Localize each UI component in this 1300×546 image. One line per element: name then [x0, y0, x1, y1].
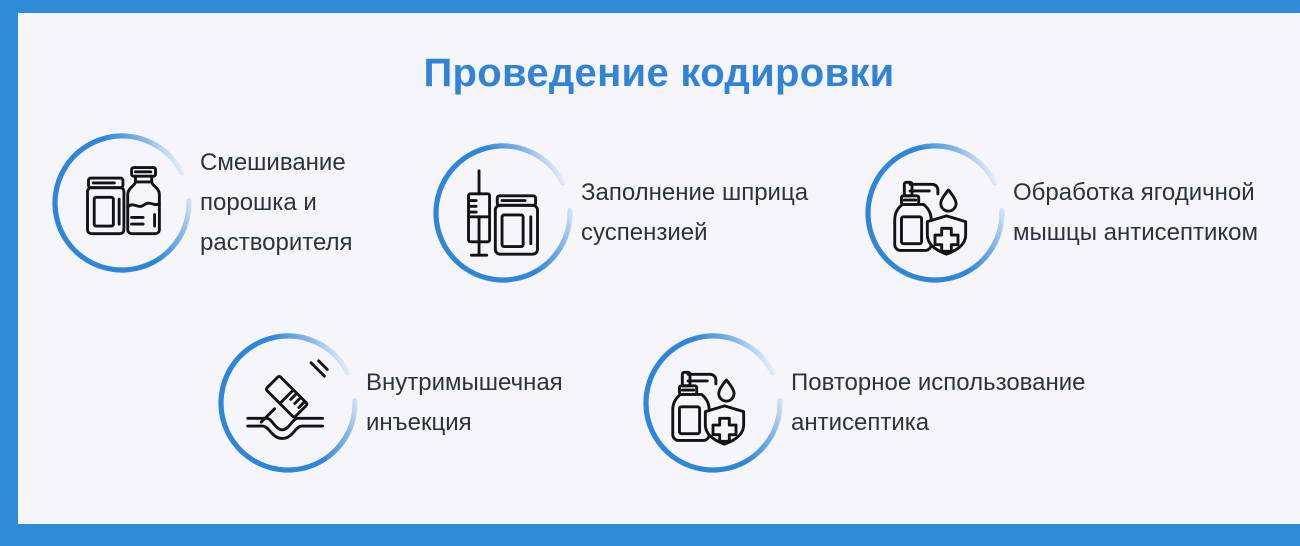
step-badge-4	[216, 331, 360, 475]
step-item-1[interactable]: Смешивание порошка и растворителя	[50, 131, 353, 275]
step-label-4: Внутримышечная инъекция	[366, 363, 563, 443]
step-badge-5	[641, 331, 785, 475]
step-item-4[interactable]: Внутримышечная инъекция	[216, 331, 563, 475]
step-badge-1	[50, 131, 194, 275]
infographic-frame: Проведение кодировки	[0, 0, 1300, 546]
antiseptic-dispenser-icon	[889, 167, 981, 259]
step-item-2[interactable]: Заполнение шприца суспензией	[431, 141, 808, 285]
step-badge-3	[863, 141, 1007, 285]
step-label-5: Повторное использование антисептика	[791, 363, 1086, 443]
infographic-panel: Проведение кодировки	[18, 13, 1300, 524]
step-label-3: Обработка ягодичной мышцы антисептиком	[1013, 173, 1258, 253]
antiseptic-dispenser-icon	[667, 357, 759, 449]
step-label-1: Смешивание порошка и растворителя	[200, 143, 353, 263]
syringe-and-vial-icon	[457, 167, 549, 259]
step-badge-2	[431, 141, 575, 285]
page-title: Проведение кодировки	[18, 51, 1300, 96]
step-item-5[interactable]: Повторное использование антисептика	[641, 331, 1086, 475]
intramuscular-injection-icon	[242, 357, 334, 449]
step-item-3[interactable]: Обработка ягодичной мышцы антисептиком	[863, 141, 1258, 285]
step-label-2: Заполнение шприца суспензией	[581, 173, 808, 253]
two-vials-icon	[76, 157, 168, 249]
